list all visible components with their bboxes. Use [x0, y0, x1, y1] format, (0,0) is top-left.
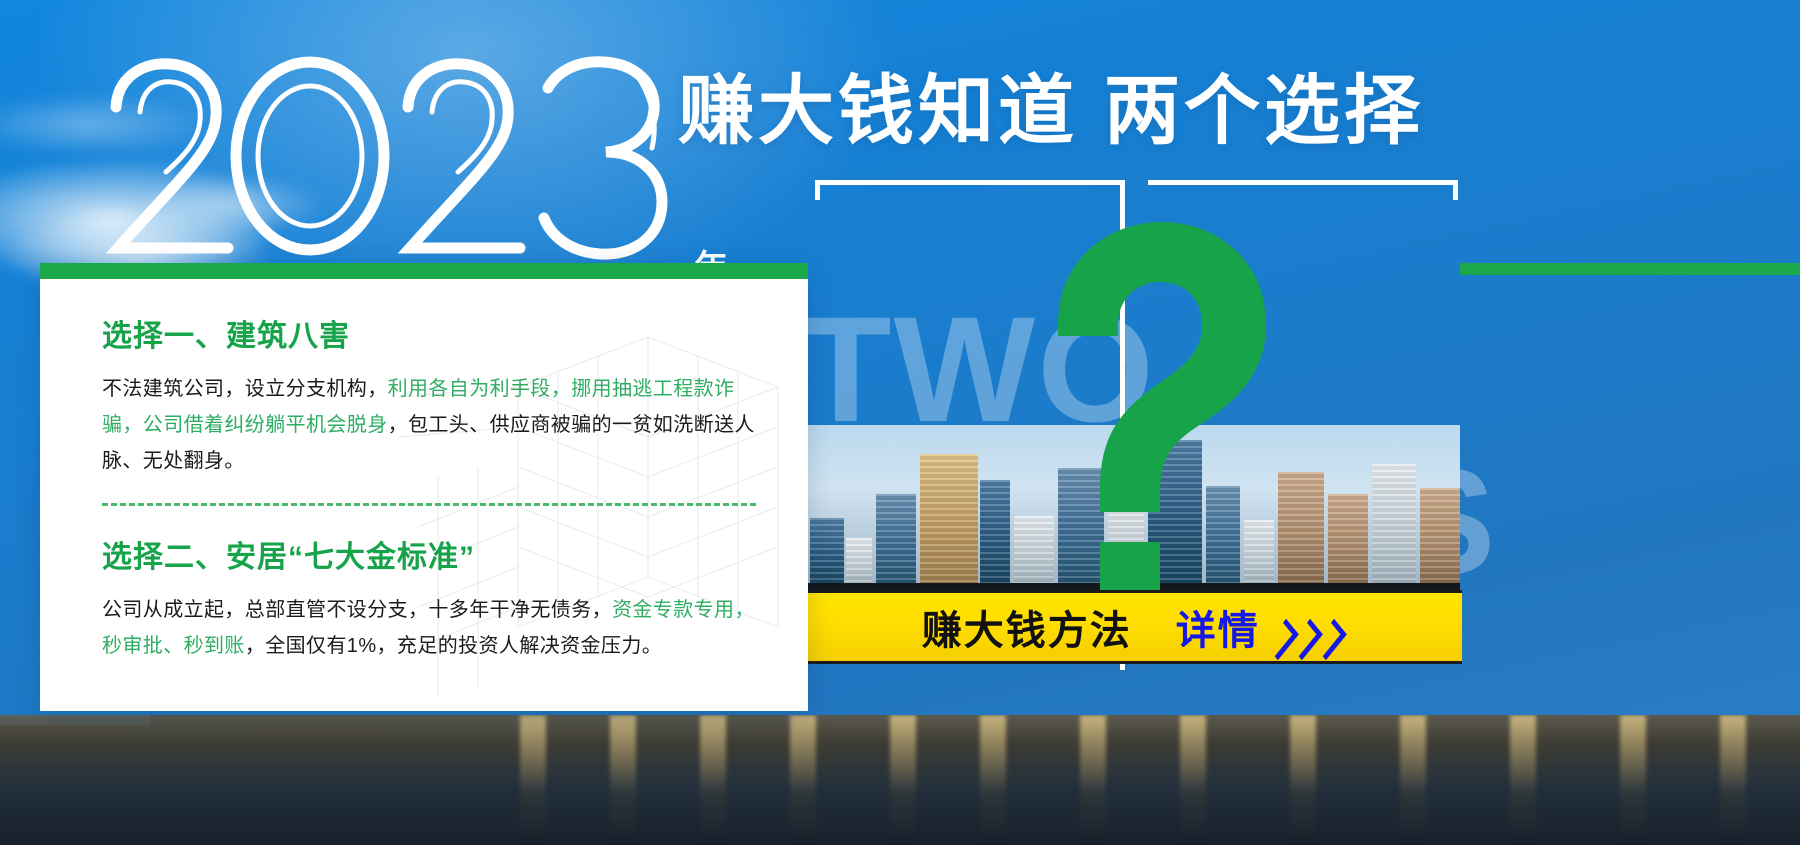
cta-main-label: 赚大钱方法	[922, 598, 1132, 656]
cityscape-photo	[800, 425, 1460, 590]
cta-detail-link[interactable]: 详情	[1176, 598, 1340, 656]
section-1-text-a: 不法建筑公司，设立分支机构，	[102, 378, 388, 400]
right-green-accent-bar	[1460, 263, 1800, 275]
headline-part-2: 两个选择	[1104, 69, 1424, 154]
section-2-title: 选择二、安居“七大金标准”	[102, 532, 756, 576]
rule-tick-left	[815, 180, 820, 200]
section-divider	[102, 503, 756, 506]
bottom-cityscape-strip	[0, 715, 1800, 845]
page-title: 赚大钱知道两个选择	[678, 74, 1424, 150]
year-graphic: 年	[96, 52, 716, 282]
section-2-body: 公司从成立起，总部直管不设分支，十多年干净无债务，资金专款专用，秒审批、秒到账，…	[102, 592, 756, 664]
bridge-silhouette	[0, 715, 150, 725]
headline-rule-right	[1148, 180, 1458, 185]
section-2-text-a: 公司从成立起，总部直管不设分支，十多年干净无债务，	[102, 599, 612, 621]
promo-banner: 年 赚大钱知道两个选择 TWO CHOICES	[0, 0, 1800, 845]
rule-tick-right	[1453, 180, 1458, 200]
cta-bar[interactable]: 赚大钱方法 详情	[800, 590, 1462, 664]
section-1-body: 不法建筑公司，设立分支机构，利用各自为利手段，挪用抽逃工程款诈骗，公司借着纠纷躺…	[102, 371, 756, 479]
chevron-right-triple-icon	[1272, 623, 1340, 656]
section-1-title: 选择一、建筑八害	[102, 311, 756, 355]
headline-part-1: 赚大钱知道	[678, 69, 1078, 154]
section-2-text-b: ，全国仅有1%，充足的投资人解决资金压力。	[245, 635, 662, 657]
cta-link-label: 详情	[1176, 609, 1260, 653]
content-card: 选择一、建筑八害 不法建筑公司，设立分支机构，利用各自为利手段，挪用抽逃工程款诈…	[40, 263, 808, 711]
headline-rule-left	[815, 180, 1125, 185]
